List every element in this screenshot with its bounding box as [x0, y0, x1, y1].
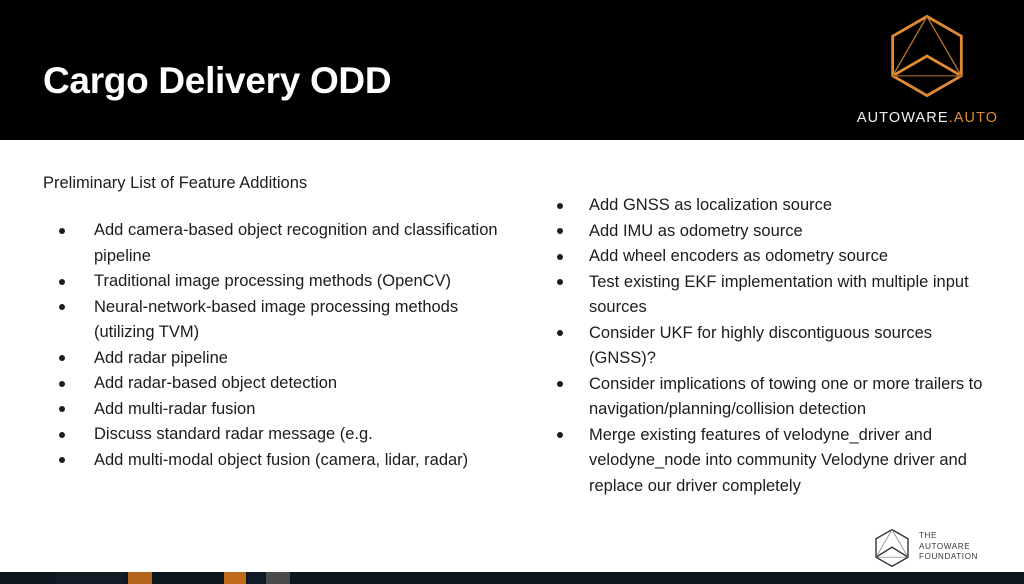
autoware-foundation-logo: THE AUTOWARE FOUNDATION	[872, 528, 994, 568]
taskbar-item-7[interactable]	[266, 572, 290, 584]
bullet-dot-icon	[59, 304, 65, 310]
bullet-dot-icon	[557, 254, 563, 260]
taskbar-item-5[interactable]	[224, 572, 246, 584]
list-item: Traditional image processing methods (Op…	[43, 269, 513, 295]
taskbar-item-3[interactable]	[128, 572, 152, 584]
left-bullet-list: Add camera-based object recognition and …	[43, 218, 513, 473]
list-item-label: Add GNSS as localization source	[589, 196, 832, 214]
list-item-label: Add wheel encoders as odometry source	[589, 247, 888, 265]
list-item: Add wheel encoders as odometry source	[552, 244, 997, 270]
taskbar-item-2[interactable]	[56, 572, 124, 584]
autoware-foundation-hexagon-icon	[872, 528, 912, 568]
bullet-dot-icon	[59, 457, 65, 463]
bullet-dot-icon	[59, 279, 65, 285]
list-item: Neural-network-based image processing me…	[43, 295, 513, 346]
brand-word-accent: .AUTO	[949, 110, 999, 126]
bullet-dot-icon	[59, 406, 65, 412]
list-item: Merge existing features of velodyne_driv…	[552, 423, 997, 500]
list-item: Add camera-based object recognition and …	[43, 218, 513, 269]
bullet-dot-icon	[59, 381, 65, 387]
list-item-label: Add radar-based object detection	[94, 374, 337, 392]
bullet-dot-icon	[557, 381, 563, 387]
taskbar-item-8[interactable]	[292, 572, 352, 584]
bullet-dot-icon	[59, 432, 65, 438]
page-title: Cargo Delivery ODD	[43, 62, 391, 99]
right-column: Add GNSS as localization sourceAdd IMU a…	[552, 193, 997, 499]
slide-root: Cargo Delivery ODD AUTOWARE.AUTO Prelimi…	[0, 0, 1024, 584]
taskbar-item-1[interactable]	[8, 572, 52, 584]
list-item-label: Add camera-based object recognition and …	[94, 221, 498, 265]
list-item: Add radar-based object detection	[43, 371, 513, 397]
list-item-label: Discuss standard radar message (e.g.	[94, 425, 373, 443]
list-item-label: Traditional image processing methods (Op…	[94, 272, 451, 290]
left-column-heading: Preliminary List of Feature Additions	[43, 173, 513, 194]
bullet-dot-icon	[557, 228, 563, 234]
list-item-label: Consider implications of towing one or m…	[589, 375, 982, 419]
taskbar[interactable]	[0, 572, 1024, 584]
brand-word-primary: AUTOWARE	[857, 110, 949, 126]
bullet-dot-icon	[557, 279, 563, 285]
bullet-dot-icon	[59, 228, 65, 234]
autoware-auto-brand: AUTOWARE.AUTO	[845, 12, 1010, 124]
foundation-line-2: AUTOWARE	[919, 542, 978, 553]
slide-content: Preliminary List of Feature Additions Ad…	[0, 140, 1024, 565]
bullet-dot-icon	[557, 330, 563, 336]
list-item: Consider UKF for highly discontiguous so…	[552, 321, 997, 372]
list-item-label: Add multi-modal object fusion (camera, l…	[94, 451, 468, 469]
right-bullet-list: Add GNSS as localization sourceAdd IMU a…	[552, 193, 997, 499]
list-item-label: Merge existing features of velodyne_driv…	[589, 426, 967, 495]
list-item: Test existing EKF implementation with mu…	[552, 270, 997, 321]
taskbar-item-4[interactable]	[154, 572, 220, 584]
list-item: Consider implications of towing one or m…	[552, 372, 997, 423]
list-item-label: Test existing EKF implementation with mu…	[589, 273, 969, 317]
list-item-label: Add radar pipeline	[94, 349, 228, 367]
foundation-line-3: FOUNDATION	[919, 552, 978, 563]
list-item: Add radar pipeline	[43, 346, 513, 372]
list-item: Add multi-radar fusion	[43, 397, 513, 423]
foundation-wordmark: THE AUTOWARE FOUNDATION	[919, 531, 978, 563]
slide-header: Cargo Delivery ODD AUTOWARE.AUTO	[0, 0, 1024, 140]
list-item: Discuss standard radar message (e.g.	[43, 422, 513, 448]
foundation-line-1: THE	[919, 531, 978, 542]
autoware-hexagon-icon	[883, 12, 971, 100]
autoware-auto-wordmark: AUTOWARE.AUTO	[845, 110, 1010, 126]
list-item-label: Neural-network-based image processing me…	[94, 298, 458, 342]
list-item: Add multi-modal object fusion (camera, l…	[43, 448, 513, 474]
list-item: Add GNSS as localization source	[552, 193, 997, 219]
bullet-dot-icon	[59, 355, 65, 361]
list-item-label: Add multi-radar fusion	[94, 400, 255, 418]
taskbar-item-6[interactable]	[248, 572, 264, 584]
list-item-label: Consider UKF for highly discontiguous so…	[589, 324, 932, 368]
bullet-dot-icon	[557, 203, 563, 209]
bullet-dot-icon	[557, 432, 563, 438]
list-item-label: Add IMU as odometry source	[589, 222, 803, 240]
left-column: Preliminary List of Feature Additions Ad…	[43, 173, 513, 473]
list-item: Add IMU as odometry source	[552, 219, 997, 245]
